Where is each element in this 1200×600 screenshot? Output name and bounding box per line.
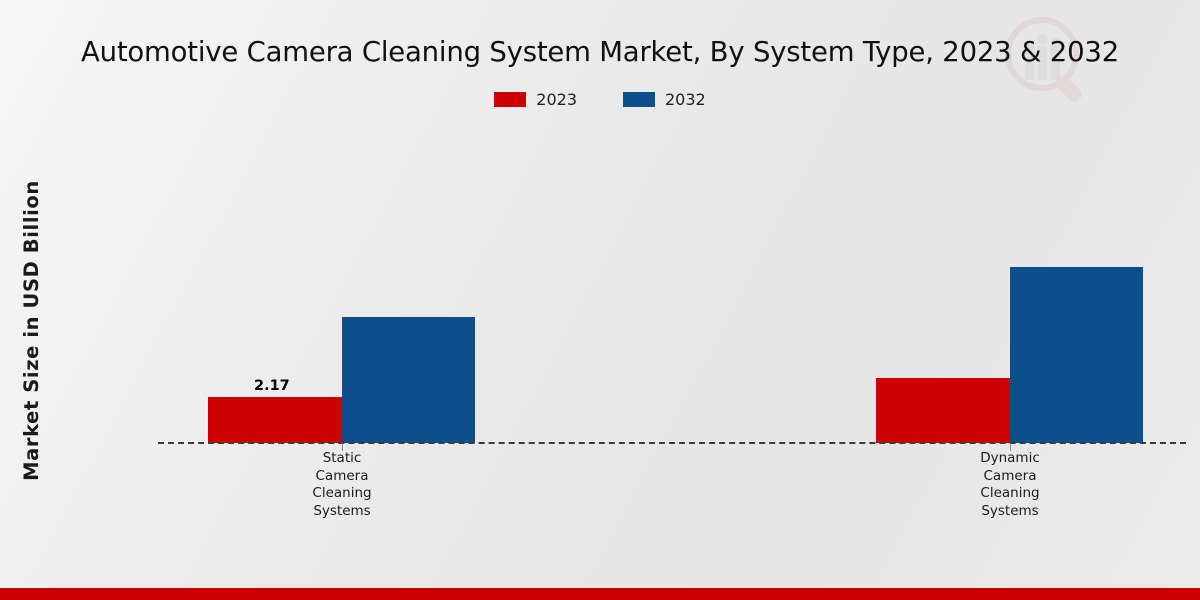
chart-legend: 2023 2032 (0, 90, 1200, 109)
x-axis-label-static-line-4: Systems (232, 503, 452, 521)
x-axis-label-dynamic-line-3: Cleaning (900, 485, 1120, 503)
y-axis-title-text: Market Size in USD Billion (20, 180, 43, 481)
x-axis-label-static-line-3: Cleaning (232, 485, 452, 503)
footer-accent-bar (0, 588, 1200, 600)
bar-2023-dynamic[interactable] (876, 378, 1010, 443)
legend-swatch-2023-icon (494, 92, 526, 107)
bar-2032-static[interactable] (342, 317, 475, 443)
x-axis-label-static-line-1: Static (232, 450, 452, 468)
bar-value-2023-static: 2.17 (254, 378, 290, 394)
x-axis-label-dynamic-line-2: Camera (900, 468, 1120, 486)
x-axis-label-dynamic-line-1: Dynamic (900, 450, 1120, 468)
x-axis-label-dynamic: Dynamic Camera Cleaning Systems (900, 450, 1120, 520)
bar-2023-static[interactable] (208, 397, 342, 443)
x-axis-label-static: Static Camera Cleaning Systems (232, 450, 452, 520)
chart-canvas: Automotive Camera Cleaning System Market… (0, 0, 1200, 600)
y-axis-title: Market Size in USD Billion (14, 150, 48, 510)
x-axis-label-dynamic-line-4: Systems (900, 503, 1120, 521)
legend-item-2032[interactable]: 2032 (623, 90, 706, 109)
chart-title: Automotive Camera Cleaning System Market… (0, 36, 1200, 68)
bar-2032-dynamic[interactable] (1010, 267, 1143, 443)
legend-swatch-2032-icon (623, 92, 655, 107)
legend-item-2023[interactable]: 2023 (494, 90, 577, 109)
legend-label-2023: 2023 (536, 90, 577, 109)
x-axis-baseline (158, 442, 1186, 444)
legend-label-2032: 2032 (665, 90, 706, 109)
plot-area: 2.17 (158, 150, 1186, 443)
x-axis-label-static-line-2: Camera (232, 468, 452, 486)
